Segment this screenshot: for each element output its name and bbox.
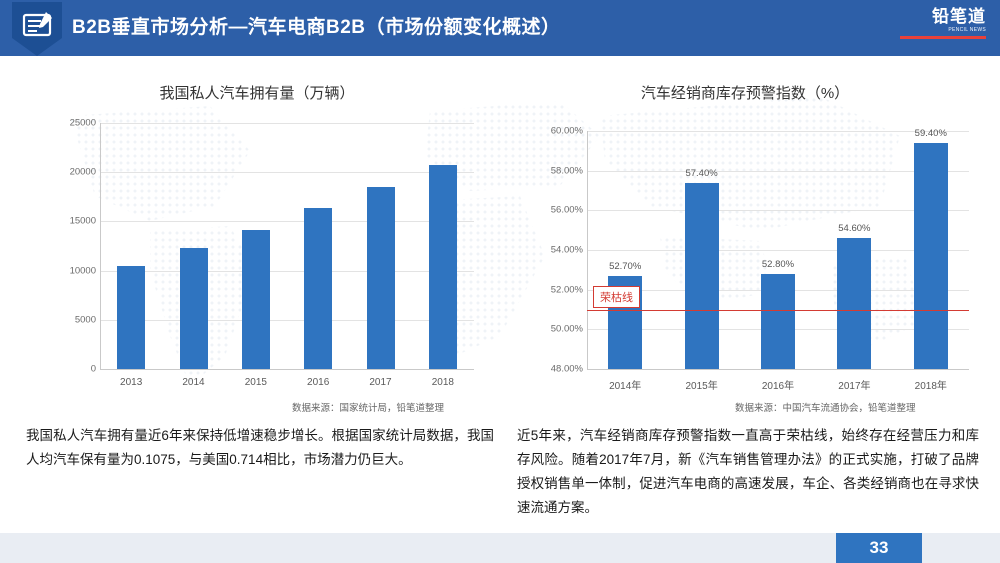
bar-value-label: 57.40%	[685, 168, 717, 179]
plot-area-right: 48.00%50.00%52.00%54.00%56.00%58.00%60.0…	[505, 109, 985, 399]
bar	[837, 238, 871, 369]
y-axis-tick-label: 20000	[42, 167, 96, 178]
gridline	[100, 221, 474, 222]
document-pencil-icon	[10, 2, 64, 56]
plot-area-left: 0500010000150002000025000201320142015201…	[22, 109, 492, 399]
y-axis-tick-label: 5000	[42, 314, 96, 325]
y-axis-tick-label: 60.00%	[529, 126, 583, 137]
y-axis-tick-label: 0	[42, 364, 96, 375]
brand-logo-underline	[900, 36, 986, 39]
bar	[429, 165, 457, 369]
brand-logo-cn: 铅笔道	[900, 8, 986, 26]
gridline	[100, 271, 474, 272]
brand-logo-en: PENCIL NEWS	[900, 26, 986, 34]
chart-title-right: 汽车经销商库存预警指数（%）	[505, 82, 985, 103]
gridline	[587, 210, 969, 211]
x-axis-tick-label: 2014	[182, 377, 204, 388]
gridline	[587, 250, 969, 251]
x-axis-line	[587, 369, 969, 370]
bar	[117, 266, 145, 369]
bar	[914, 143, 948, 369]
x-axis-tick-label: 2018	[432, 377, 454, 388]
page-title: B2B垂直市场分析—汽车电商B2B（市场份额变化概述）	[72, 0, 561, 56]
y-axis-tick-label: 56.00%	[529, 205, 583, 216]
chart-source-left: 数据来源：国家统计局，铅笔道整理	[292, 400, 444, 414]
y-axis-tick-label: 10000	[42, 265, 96, 276]
y-axis-line	[100, 123, 101, 369]
summary-text-left: 我国私人汽车拥有量近6年来保持低增速稳步增长。根据国家统计局数据，我国人均汽车保…	[26, 424, 494, 472]
y-axis-tick-label: 50.00%	[529, 324, 583, 335]
bar-value-label: 52.80%	[762, 259, 794, 270]
gridline	[100, 320, 474, 321]
gridline	[100, 123, 474, 124]
x-axis-tick-label: 2017年	[838, 377, 870, 392]
page-number: 33	[836, 533, 922, 563]
header-bar: B2B垂直市场分析—汽车电商B2B（市场份额变化概述） 铅笔道 PENCIL N…	[0, 0, 1000, 56]
x-axis-tick-label: 2017	[369, 377, 391, 388]
x-axis-line	[100, 369, 474, 370]
chart-panel-inventory-index: 汽车经销商库存预警指数（%） 48.00%50.00%52.00%54.00%5…	[505, 70, 985, 420]
y-axis-tick-label: 58.00%	[529, 165, 583, 176]
x-axis-tick-label: 2015年	[685, 377, 717, 392]
bar	[180, 248, 208, 369]
bar-value-label: 59.40%	[915, 128, 947, 139]
brand-logo: 铅笔道 PENCIL NEWS	[900, 8, 986, 46]
x-axis-tick-label: 2016	[307, 377, 329, 388]
bar	[761, 274, 795, 369]
x-axis-tick-label: 2015	[245, 377, 267, 388]
x-axis-tick-label: 2014年	[609, 377, 641, 392]
gridline	[587, 131, 969, 132]
y-axis-tick-label: 54.00%	[529, 245, 583, 256]
bar	[304, 208, 332, 369]
y-axis-line	[587, 131, 588, 369]
y-axis-tick-label: 15000	[42, 216, 96, 227]
bar-value-label: 54.60%	[838, 223, 870, 234]
reference-line-label: 荣枯线	[593, 286, 640, 308]
reference-line	[587, 310, 969, 311]
x-axis-tick-label: 2016年	[762, 377, 794, 392]
chart-source-right: 数据来源：中国汽车流通协会，铅笔道整理	[735, 400, 916, 414]
chart-panel-private-cars: 我国私人汽车拥有量（万辆） 05000100001500020000250002…	[22, 70, 492, 420]
bar	[242, 230, 270, 369]
y-axis-tick-label: 52.00%	[529, 284, 583, 295]
gridline	[587, 171, 969, 172]
y-axis-tick-label: 25000	[42, 118, 96, 129]
chart-title-left: 我国私人汽车拥有量（万辆）	[22, 82, 492, 103]
x-axis-tick-label: 2018年	[915, 377, 947, 392]
bar	[685, 183, 719, 369]
x-axis-tick-label: 2013	[120, 377, 142, 388]
summary-text-right: 近5年来，汽车经销商库存预警指数一直高于荣枯线，始终存在经营压力和库存风险。随着…	[517, 424, 979, 520]
bar-value-label: 52.70%	[609, 261, 641, 272]
y-axis-tick-label: 48.00%	[529, 364, 583, 375]
bar	[367, 187, 395, 369]
gridline	[100, 172, 474, 173]
